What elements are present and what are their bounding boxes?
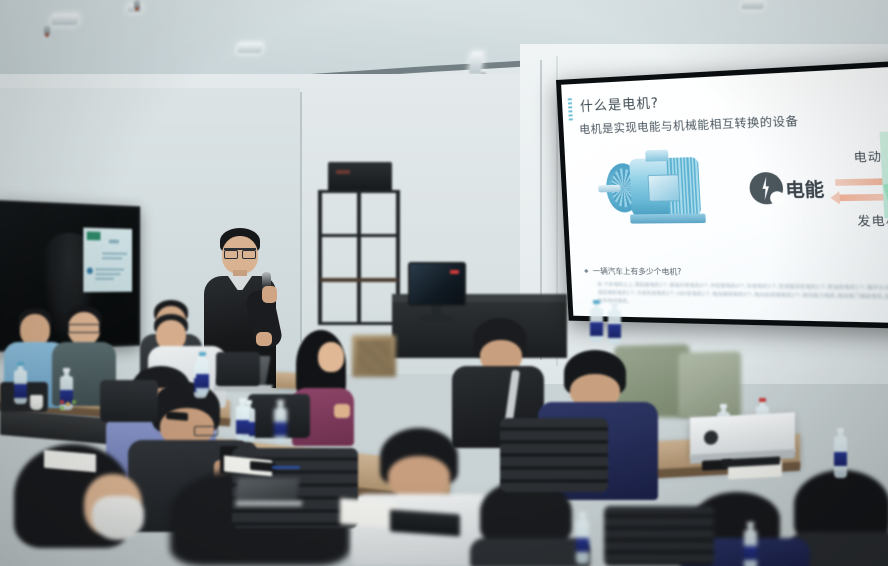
desktop-monitor [408,262,466,306]
motor-direction-label: 电动机 [829,146,888,166]
water-bottle[interactable] [834,428,847,478]
water-bottle[interactable] [196,352,209,394]
electric-energy-logo: 电能 [749,171,825,205]
water-bottle[interactable] [608,302,621,344]
water-bottle[interactable] [236,398,251,440]
fruit-plate-item [60,406,64,410]
motor-terminal-box [647,174,680,202]
slide-title: 什么是电机? [579,92,659,115]
laptop[interactable] [236,478,300,508]
face-mask [92,496,144,540]
monitor-brand-mark [450,270,459,274]
ceiling-downlight [741,0,764,9]
conversion-flow: 电动机 发电机 [829,148,888,227]
coffee-cup[interactable] [30,395,43,410]
glasses-icon [224,248,256,257]
slide-decoration [568,98,573,120]
fruit-plate-item [60,400,64,404]
storage-shelf [318,190,400,325]
water-bottle[interactable] [744,522,757,566]
mesh-chair-back [604,506,714,566]
arrow-right-icon [835,178,888,186]
glasses-icon [68,324,100,333]
mesh-chair-back [500,418,608,492]
logo-letter: A [866,65,883,69]
water-bottle[interactable] [14,362,27,404]
sprinkler-head [134,0,140,9]
fruit-plate-item [72,400,76,404]
company-logo: A 智能制造 [866,65,888,69]
fruit-plate-item [66,402,70,406]
motor-shaft [598,185,621,193]
pen[interactable] [272,466,300,469]
water-bottle[interactable] [590,300,603,342]
electric-motor-image [600,142,728,240]
speaker-unit [352,335,396,377]
presenter-hand [262,286,277,303]
water-bottle[interactable] [274,400,287,442]
energy-label: 电能 [784,174,824,202]
hand [334,404,350,418]
slide-subtitle: 电机是实现电能与机械能相互转换的设备 [579,112,799,137]
meeting-room-photo: A 智能制造 什么是电机? 电机是实现电能与机械能相互转换的设备 [0,0,888,566]
document-paper[interactable] [340,498,396,528]
wall-seam [300,92,302,342]
glasses-icon [194,426,218,436]
ceiling-downlight [51,14,79,25]
generator-direction-label: 发电机 [832,211,888,229]
mesh-chair-back [100,380,158,422]
presenter-hand [256,332,272,346]
attendee-back-of-head [470,480,590,566]
slide-content: A 智能制造 什么是电机? 电机是实现电能与机械能相互转换的设备 [561,65,888,323]
presentation-display[interactable]: A 智能制造 什么是电机? 电机是实现电能与机械能相互转换的设备 [556,59,888,329]
arrow-left-icon [838,193,888,201]
ceiling-downlight [237,43,262,53]
office-chair [678,351,741,419]
display-bezel: A 智能制造 什么是电机? 电机是实现电能与机械能相互转换的设备 [556,59,888,329]
mesh-chair-back [216,352,260,386]
lightning-bolt-icon [749,172,784,205]
slide-answer-text: 答:汽车电机以上,雨刮器电机1个,玻璃升降电机4个,中控锁电机4个,天窗电机1个… [597,282,888,313]
water-bottle[interactable] [576,512,589,564]
slide-bullet-question: 一辆汽车上有多少个电机? [592,265,681,277]
shelf-equipment-box [328,162,392,192]
sprinkler-head [44,26,50,35]
